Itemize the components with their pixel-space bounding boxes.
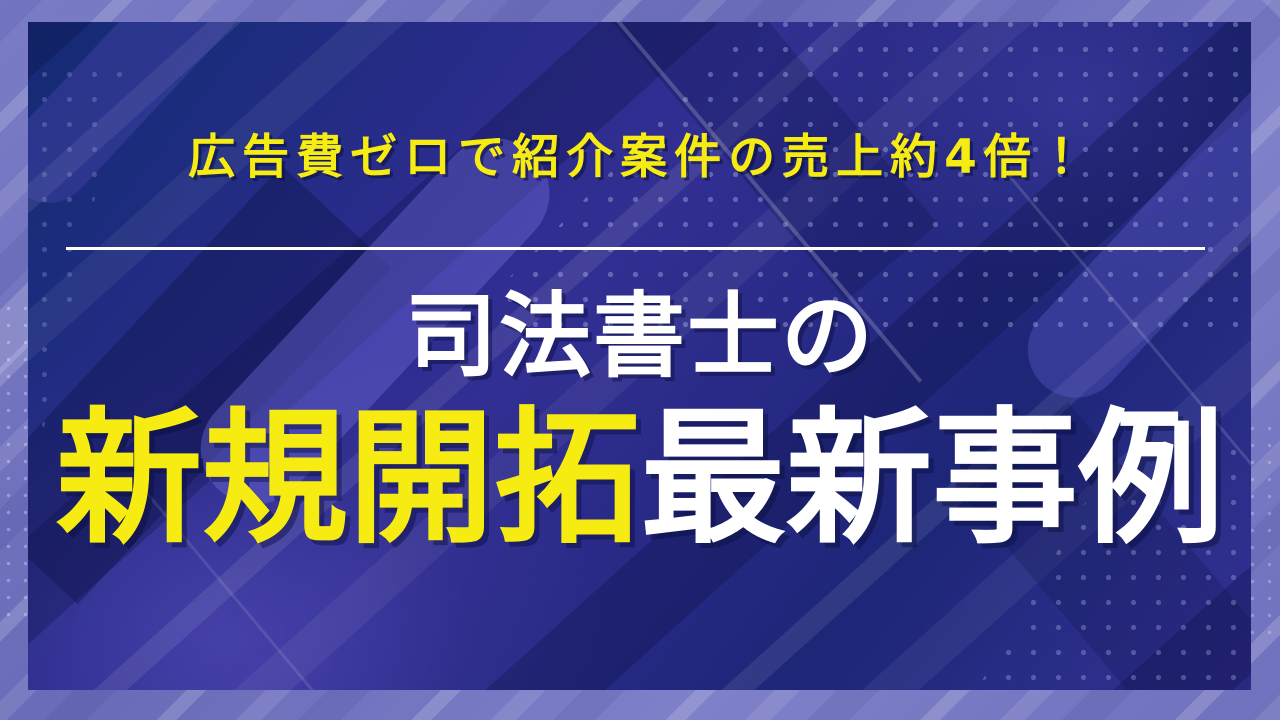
horizontal-divider	[66, 247, 1205, 250]
page-title-line-2: 新規開拓最新事例	[0, 398, 1280, 562]
kicker-text: 広告費ゼロで紹介案件の売上約4倍！	[0, 132, 1280, 184]
page-title-highlight: 新規開拓	[56, 394, 640, 564]
slide-content: 広告費ゼロで紹介案件の売上約4倍！ 司法書士の 新規開拓最新事例	[0, 0, 1280, 720]
page-title-plain: 最新事例	[640, 394, 1224, 564]
page-title-line-1: 司法書士の	[0, 285, 1280, 388]
title-slide: 広告費ゼロで紹介案件の売上約4倍！ 司法書士の 新規開拓最新事例	[0, 0, 1280, 720]
